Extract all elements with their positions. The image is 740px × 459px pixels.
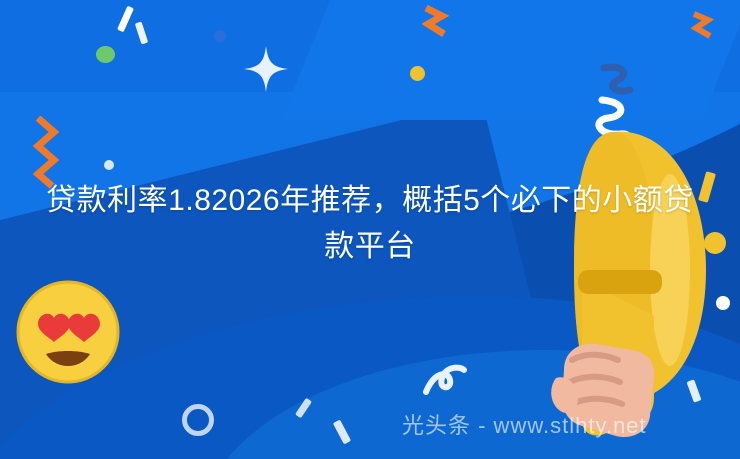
confetti-streamer-orange-right [690, 10, 726, 46]
watermark-text: 光头条 - www.stlhty.net [402, 408, 647, 440]
banner-image: 贷款利率1.82026年推荐，概括5个必下的小额贷款平台 光头条 - www.s… [0, 0, 740, 459]
background-top-strip-accent [282, 0, 740, 120]
confetti-spiral-white [420, 360, 468, 402]
confetti-dot-green [96, 46, 115, 63]
confetti-dot-white [104, 160, 114, 170]
megaphone-icon [520, 120, 740, 440]
confetti-sparkle-white [244, 46, 288, 92]
confetti-ring-white [182, 404, 214, 436]
page-title: 贷款利率1.82026年推荐，概括5个必下的小额贷款平台 [34, 178, 706, 270]
confetti-dot-yellow [410, 66, 425, 81]
heart-eyes-emoji [16, 280, 120, 384]
confetti-dot-blue [214, 30, 226, 42]
confetti-streamer-orange-top [422, 4, 460, 44]
